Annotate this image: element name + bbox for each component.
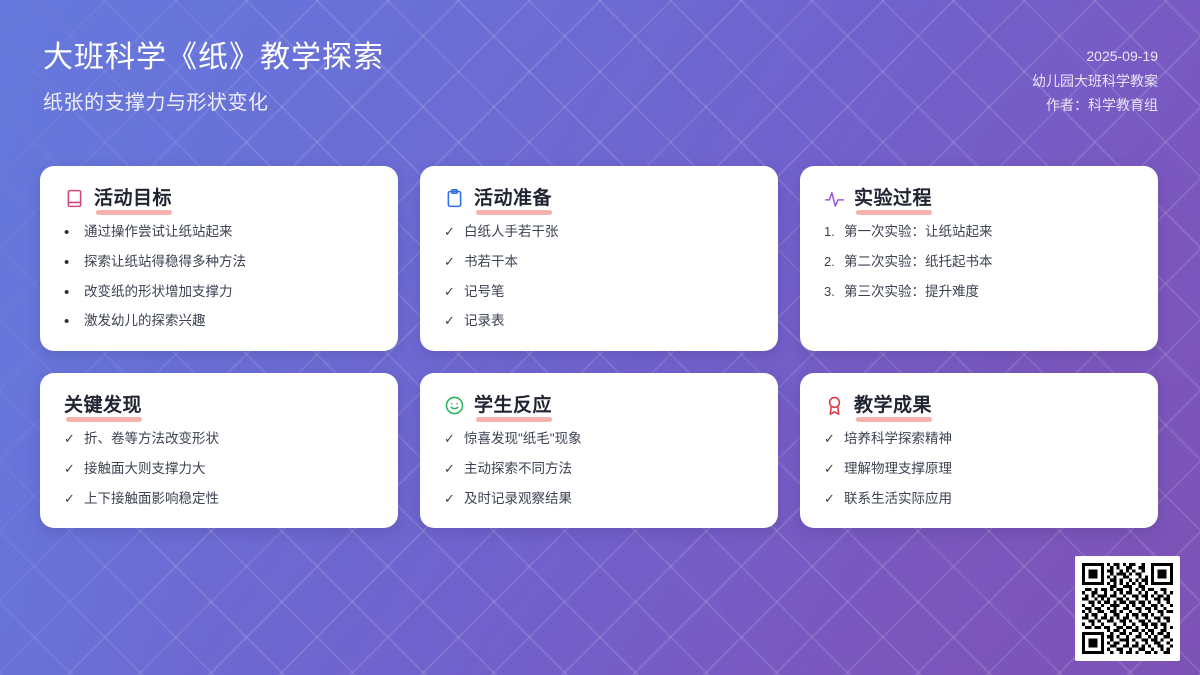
list-marker: ✓	[824, 491, 836, 507]
list-marker: ✓	[444, 284, 456, 300]
list-marker: ✓	[64, 491, 76, 507]
card-list: ✓折、卷等方法改变形状✓接触面大则支撑力大✓上下接触面影响稳定性	[64, 431, 374, 508]
slide-root: 大班科学《纸》教学探索 纸张的支撑力与形状变化 2025-09-19 幼儿园大班…	[0, 0, 1200, 675]
card-list: ✓培养科学探索精神✓理解物理支撑原理✓联系生活实际应用	[824, 431, 1134, 508]
card-teaching-outcomes: 教学成果✓培养科学探索精神✓理解物理支撑原理✓联系生活实际应用	[800, 373, 1158, 528]
list-marker: ✓	[444, 431, 456, 447]
clipboard-icon	[444, 188, 465, 209]
meta-author: 作者：科学教育组	[1032, 93, 1158, 118]
list-marker: 2.	[824, 254, 836, 270]
card-title-wrap: 教学成果	[854, 395, 932, 417]
list-item: •通过操作尝试让纸站起来	[64, 224, 374, 241]
list-marker: ✓	[824, 431, 836, 447]
card-title-wrap: 活动准备	[474, 188, 552, 210]
award-icon	[824, 395, 845, 416]
card-title-underline	[66, 417, 142, 422]
book-icon	[64, 188, 85, 209]
card-title-underline	[856, 417, 932, 422]
list-marker: ✓	[444, 224, 456, 240]
list-item: •激发幼儿的探索兴趣	[64, 313, 374, 330]
list-marker: ✓	[444, 461, 456, 477]
list-item: 2.第二次实验：纸托起书本	[824, 254, 1134, 271]
header-left: 大班科学《纸》教学探索 纸张的支撑力与形状变化	[42, 38, 384, 115]
list-item: ✓理解物理支撑原理	[824, 461, 1134, 478]
card-experiment-process: 实验过程1.第一次实验：让纸站起来2.第二次实验：纸托起书本3.第三次实验：提升…	[800, 166, 1158, 351]
list-item-text: 培养科学探索精神	[844, 431, 952, 448]
header-meta: 2025-09-19 幼儿园大班科学教案 作者：科学教育组	[1032, 38, 1158, 118]
list-item-text: 记号笔	[464, 284, 505, 301]
page-subtitle: 纸张的支撑力与形状变化	[43, 86, 384, 115]
card-title-wrap: 实验过程	[854, 188, 932, 210]
list-marker: ✓	[824, 461, 836, 477]
card-list: •通过操作尝试让纸站起来•探索让纸站得稳得多种方法•改变纸的形状增加支撑力•激发…	[64, 224, 374, 331]
card-preparation: 活动准备✓白纸人手若干张✓书若干本✓记号笔✓记录表	[420, 166, 778, 351]
card-title-underline	[476, 417, 552, 422]
list-item: ✓主动探索不同方法	[444, 461, 754, 478]
card-header: 学生反应	[444, 395, 754, 417]
list-item-text: 记录表	[464, 313, 505, 330]
list-marker: •	[64, 225, 76, 240]
card-header: 活动目标	[64, 188, 374, 210]
card-title-wrap: 学生反应	[474, 395, 552, 417]
list-item-text: 第一次实验：让纸站起来	[844, 224, 993, 241]
meta-date: 2025-09-19	[1032, 44, 1158, 69]
page-title: 大班科学《纸》教学探索	[43, 38, 384, 77]
card-title-underline	[856, 210, 932, 215]
list-marker: ✓	[444, 313, 456, 329]
pulse-icon	[824, 188, 845, 209]
list-marker: •	[64, 255, 76, 270]
list-item-text: 及时记录观察结果	[464, 491, 572, 508]
card-list: ✓白纸人手若干张✓书若干本✓记号笔✓记录表	[444, 224, 754, 331]
list-marker: ✓	[444, 254, 456, 270]
list-item: •探索让纸站得稳得多种方法	[64, 254, 374, 271]
list-item-text: 书若干本	[464, 254, 518, 271]
list-item-text: 激发幼儿的探索兴趣	[84, 313, 206, 330]
list-item: ✓接触面大则支撑力大	[64, 461, 374, 478]
card-header: 实验过程	[824, 188, 1134, 210]
list-item-text: 主动探索不同方法	[464, 461, 572, 478]
list-marker: •	[64, 314, 76, 329]
list-item-text: 探索让纸站得稳得多种方法	[84, 254, 246, 271]
card-header: 教学成果	[824, 395, 1134, 417]
list-item: ✓联系生活实际应用	[824, 491, 1134, 508]
card-title: 教学成果	[854, 395, 932, 417]
card-title: 关键发现	[64, 395, 142, 417]
card-title: 活动目标	[94, 188, 172, 210]
card-student-reaction: 学生反应✓惊喜发现"纸毛"现象✓主动探索不同方法✓及时记录观察结果	[420, 373, 778, 528]
smiley-icon	[444, 395, 465, 416]
card-title-wrap: 关键发现	[64, 395, 142, 417]
card-title-wrap: 活动目标	[94, 188, 172, 210]
card-title: 实验过程	[854, 188, 932, 210]
list-item-text: 接触面大则支撑力大	[84, 461, 206, 478]
list-marker: 1.	[824, 224, 836, 240]
list-item-text: 通过操作尝试让纸站起来	[84, 224, 233, 241]
card-title: 学生反应	[474, 395, 552, 417]
list-marker: ✓	[64, 431, 76, 447]
list-item-text: 第二次实验：纸托起书本	[844, 254, 993, 271]
card-header: 关键发现	[64, 395, 374, 417]
list-item: 3.第三次实验：提升难度	[824, 284, 1134, 301]
list-item: ✓惊喜发现"纸毛"现象	[444, 431, 754, 448]
card-header: 活动准备	[444, 188, 754, 210]
card-title: 活动准备	[474, 188, 552, 210]
list-item: ✓记号笔	[444, 284, 754, 301]
list-item-text: 白纸人手若干张	[464, 224, 559, 241]
list-marker: •	[64, 285, 76, 300]
card-list: 1.第一次实验：让纸站起来2.第二次实验：纸托起书本3.第三次实验：提升难度	[824, 224, 1134, 301]
list-item: •改变纸的形状增加支撑力	[64, 284, 374, 301]
cards-grid: 活动目标•通过操作尝试让纸站起来•探索让纸站得稳得多种方法•改变纸的形状增加支撑…	[40, 166, 1160, 528]
meta-category: 幼儿园大班科学教案	[1032, 69, 1158, 94]
list-item: ✓上下接触面影响稳定性	[64, 491, 374, 508]
list-item-text: 理解物理支撑原理	[844, 461, 952, 478]
slide-header: 大班科学《纸》教学探索 纸张的支撑力与形状变化 2025-09-19 幼儿园大班…	[0, 0, 1200, 150]
card-objectives: 活动目标•通过操作尝试让纸站起来•探索让纸站得稳得多种方法•改变纸的形状增加支撑…	[40, 166, 398, 351]
list-item: ✓培养科学探索精神	[824, 431, 1134, 448]
list-marker: 3.	[824, 284, 836, 300]
qr-code-image	[1082, 563, 1173, 654]
list-marker: ✓	[64, 461, 76, 477]
list-item: ✓及时记录观察结果	[444, 491, 754, 508]
list-item-text: 改变纸的形状增加支撑力	[84, 284, 233, 301]
list-item: 1.第一次实验：让纸站起来	[824, 224, 1134, 241]
list-item-text: 惊喜发现"纸毛"现象	[464, 431, 582, 448]
card-list: ✓惊喜发现"纸毛"现象✓主动探索不同方法✓及时记录观察结果	[444, 431, 754, 508]
list-item: ✓书若干本	[444, 254, 754, 271]
list-item-text: 折、卷等方法改变形状	[84, 431, 219, 448]
list-item-text: 联系生活实际应用	[844, 491, 952, 508]
card-title-underline	[476, 210, 552, 215]
qr-code[interactable]	[1075, 556, 1180, 661]
list-item-text: 上下接触面影响稳定性	[84, 491, 219, 508]
list-marker: ✓	[444, 491, 456, 507]
card-key-findings: 关键发现✓折、卷等方法改变形状✓接触面大则支撑力大✓上下接触面影响稳定性	[40, 373, 398, 528]
card-title-underline	[96, 210, 172, 215]
list-item: ✓白纸人手若干张	[444, 224, 754, 241]
list-item: ✓记录表	[444, 313, 754, 330]
list-item-text: 第三次实验：提升难度	[844, 284, 979, 301]
list-item: ✓折、卷等方法改变形状	[64, 431, 374, 448]
